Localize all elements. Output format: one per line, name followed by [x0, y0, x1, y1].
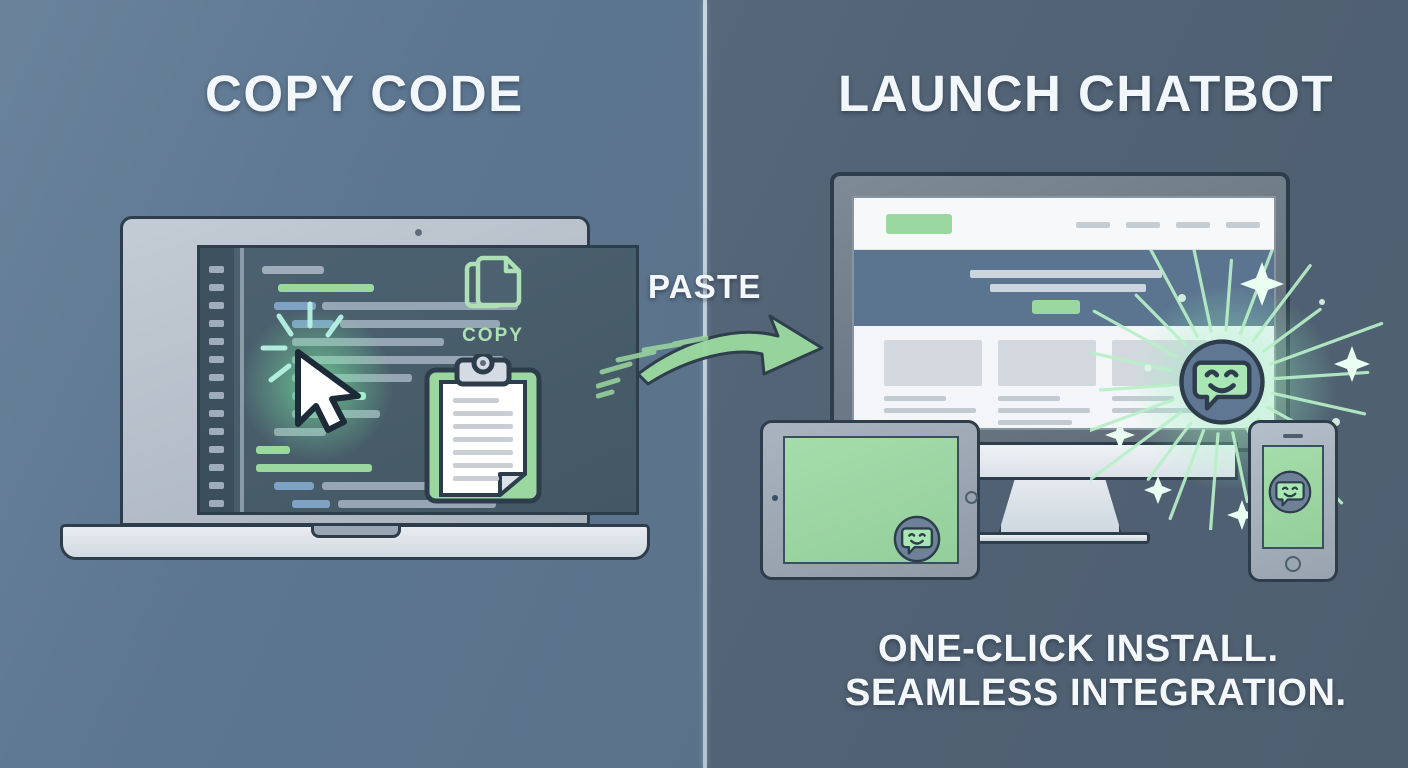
phone-home-button[interactable]: [1285, 556, 1301, 572]
website-navbar: [854, 198, 1274, 250]
code-line-number: [209, 428, 224, 435]
tablet-device: [760, 420, 980, 580]
code-line-number: [209, 464, 224, 471]
card-caption-line: [998, 408, 1090, 413]
nav-link[interactable]: [1126, 222, 1160, 228]
curved-arrow-right-icon: [596, 300, 836, 400]
clipboard-text-line: [453, 398, 499, 403]
clipboard-text-line: [453, 437, 513, 442]
laptop-base: [60, 524, 650, 560]
hero-cta-button[interactable]: [1032, 300, 1080, 314]
code-line-number: [209, 356, 224, 363]
hero-headline-bar: [970, 270, 1162, 278]
card-caption-line: [998, 420, 1072, 425]
chat-bubble-smiley-icon[interactable]: [893, 515, 941, 563]
code-line-segment: [278, 284, 374, 292]
code-line-number: [209, 284, 224, 291]
phone-device: [1248, 420, 1338, 582]
tablet-home-button[interactable]: [965, 491, 978, 504]
site-logo: [886, 214, 952, 234]
code-line-number: [209, 482, 224, 489]
laptop-webcam-icon: [415, 229, 422, 236]
code-editor-rule: [240, 248, 244, 512]
card-caption-line: [1112, 396, 1174, 401]
illustration-canvas: COPY CODE: [0, 0, 1408, 768]
code-line-number: [209, 392, 224, 399]
clipboard-text-line: [453, 424, 513, 429]
tagline-line-1: ONE-CLICK INSTALL.: [878, 628, 1279, 671]
code-line-number: [209, 338, 224, 345]
website-hero-section: [854, 250, 1274, 326]
nav-link[interactable]: [1176, 222, 1210, 228]
code-line-segment: [256, 464, 372, 472]
content-card: [884, 340, 982, 386]
clipboard-text-line: [453, 411, 513, 416]
code-line-number: [209, 410, 224, 417]
monitor-stand: [998, 477, 1122, 535]
tagline-line-2: SEAMLESS INTEGRATION.: [845, 672, 1347, 715]
code-line-number: [209, 500, 224, 507]
tablet-camera-icon: [772, 495, 778, 501]
copy-documents-icon: [462, 252, 524, 314]
left-panel-title: COPY CODE: [205, 64, 524, 123]
card-caption-line: [998, 396, 1060, 401]
code-line-number: [209, 266, 224, 273]
hero-subline-bar: [990, 284, 1146, 292]
code-line-number: [209, 446, 224, 453]
code-line-segment: [292, 500, 330, 508]
monitor-foot: [970, 532, 1150, 544]
chat-bubble-smiley-icon[interactable]: [1268, 470, 1312, 514]
code-line-number: [209, 374, 224, 381]
right-panel-title: LAUNCH CHATBOT: [838, 64, 1334, 123]
mouse-pointer-icon[interactable]: [292, 348, 368, 434]
clipboard-text-line: [453, 463, 513, 468]
laptop-trackpad-notch: [311, 526, 401, 538]
code-line-number: [209, 302, 224, 309]
code-line-segment: [262, 266, 324, 274]
clipboard-text-line: [453, 476, 499, 481]
copy-button-label: COPY: [438, 325, 548, 347]
phone-speaker-icon: [1283, 434, 1303, 438]
content-card: [998, 340, 1096, 386]
card-caption-line: [884, 408, 976, 413]
copy-button[interactable]: COPY: [438, 252, 548, 347]
code-line-segment: [256, 446, 290, 454]
chat-bubble-smiley-icon[interactable]: [1178, 338, 1266, 426]
card-caption-line: [884, 396, 946, 401]
nav-link[interactable]: [1076, 222, 1110, 228]
clipboard-icon: [424, 354, 542, 504]
code-line-number: [209, 320, 224, 327]
tablet-body: [760, 420, 980, 580]
nav-link[interactable]: [1226, 222, 1260, 228]
code-line-segment: [274, 482, 314, 490]
clipboard-text-line: [453, 450, 513, 455]
